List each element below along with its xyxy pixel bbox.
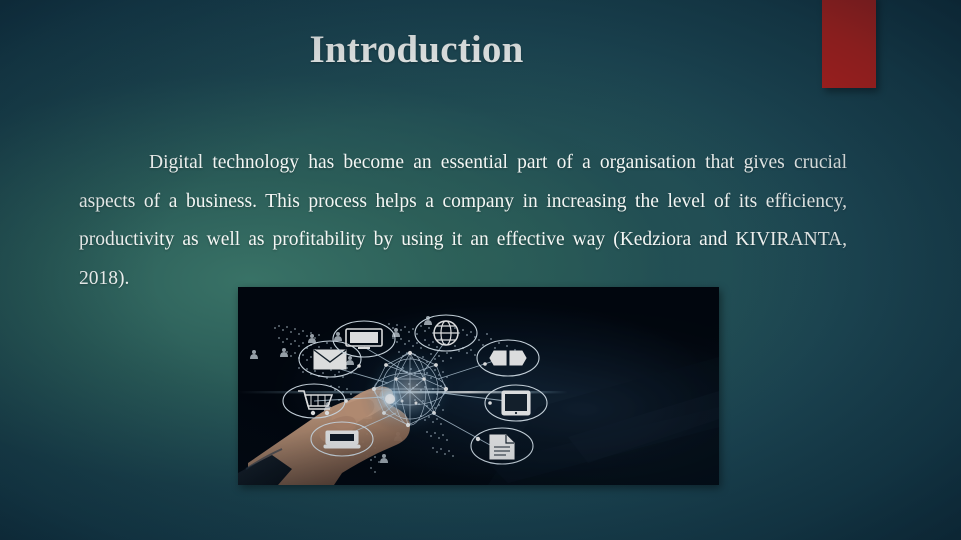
slide-title: Introduction: [0, 27, 833, 73]
slide-image: [238, 287, 719, 485]
digital-network-illustration: [238, 287, 719, 485]
presentation-slide: Introduction Digital technology has beco…: [0, 0, 961, 540]
slide-body-paragraph: Digital technology has become an essenti…: [79, 144, 847, 298]
image-darken-overlay: [238, 287, 719, 485]
